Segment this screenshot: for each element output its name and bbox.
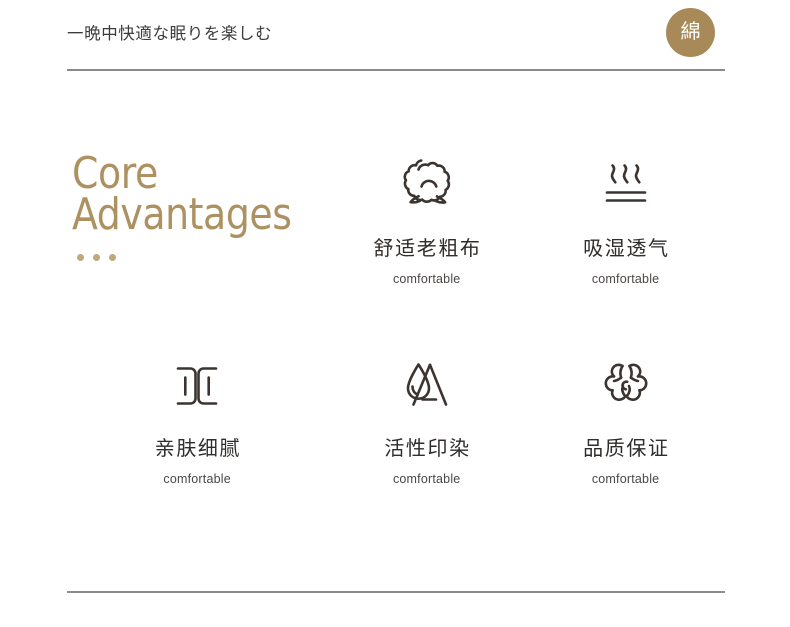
feature-item-3: 亲肤细腻 comfortable [67,350,327,505]
headline-line-2: Advantages [72,195,292,236]
page-header: 一晩中快適な眠りを楽しむ 綿 [0,0,790,72]
headline-dots [77,254,116,261]
droplet-dye-icon [396,350,458,422]
feature-grid: Core Advantages 舒适老粗布 comfortable [67,150,725,505]
cotton-badge: 綿 [666,8,715,57]
feature-label-en: comfortable [592,471,660,487]
feature-label-cn: 舒适老粗布 [372,236,482,262]
divider-bottom [67,591,725,593]
feature-item-5: 品质保证 comfortable [526,350,725,505]
feature-label-cn: 品质保证 [582,436,670,462]
feature-label-en: comfortable [592,271,660,287]
feature-label-en: comfortable [393,471,461,487]
fabric-texture-icon [166,350,228,422]
feature-label-cn: 吸湿透气 [582,236,670,262]
feature-item-2: 吸湿透气 comfortable [526,150,725,305]
feature-label-cn: 活性印染 [383,436,471,462]
headline-block: Core Advantages [67,150,327,305]
feature-item-4: 活性印染 comfortable [327,350,526,505]
feature-label-cn: 亲肤细腻 [153,436,241,462]
product-feature-page: 一晩中快適な眠りを楽しむ 綿 Core Advantages [0,0,790,627]
feature-label-en: comfortable [393,271,461,287]
divider-top [67,69,725,71]
cotton-boll-icon [396,150,458,222]
steam-breathable-icon [595,150,657,222]
feature-item-1: 舒适老粗布 comfortable [327,150,526,305]
dot-1 [77,254,84,261]
page-title: 一晩中快適な眠りを楽しむ [67,22,272,46]
cotton-flower-icon [595,350,657,422]
feature-label-en: comfortable [163,471,231,487]
dot-3 [109,254,116,261]
dot-2 [93,254,100,261]
